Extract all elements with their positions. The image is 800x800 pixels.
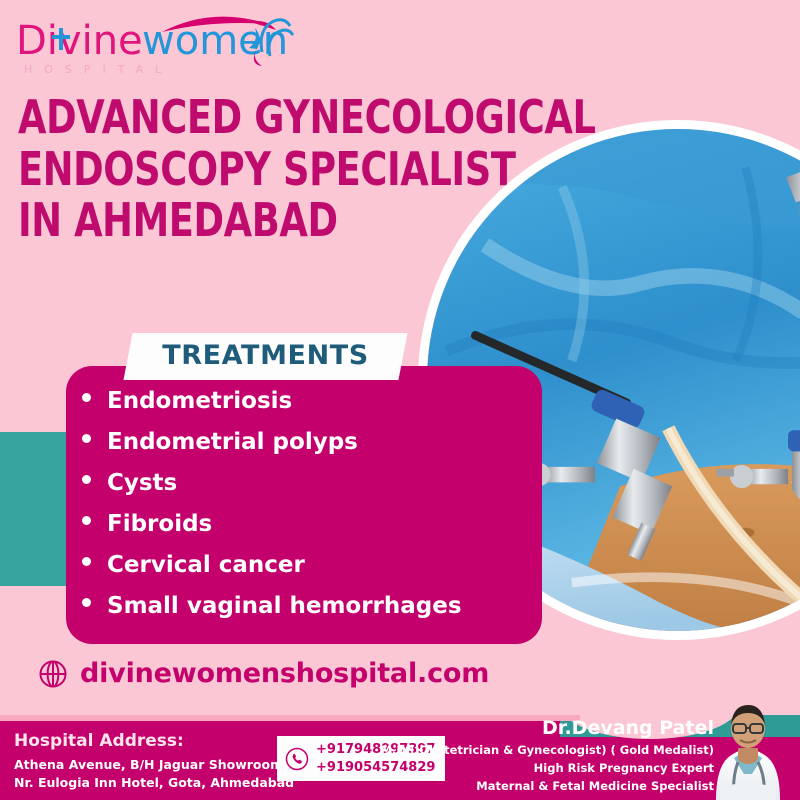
- treatment-label: Endometriosis: [107, 390, 292, 413]
- bullet-icon: [82, 598, 91, 607]
- list-item: Endometriosis: [82, 390, 552, 413]
- website-row[interactable]: divinewomenshospital.com: [38, 658, 489, 689]
- address-line: Athena Avenue, B/H Jaguar Showroom,: [14, 756, 294, 774]
- logo-subtitle: HOSPITAL: [24, 63, 173, 76]
- hospital-logo: Divine women HOSPITAL: [14, 6, 304, 78]
- doctor-credential: High Risk Pregnancy Expert: [381, 760, 714, 778]
- bullet-icon: [82, 434, 91, 443]
- treatment-label: Small vaginal hemorrhages: [107, 595, 462, 618]
- treatments-banner-label: TREATMENTS: [162, 340, 369, 371]
- list-item: Cysts: [82, 472, 552, 495]
- headline-line-2: ENDOSCOPY SPECIALIST: [18, 144, 466, 196]
- list-item: Endometrial polyps: [82, 431, 552, 454]
- bullet-icon: [82, 393, 91, 402]
- treatment-label: Endometrial polyps: [107, 431, 358, 454]
- address-title: Hospital Address:: [14, 731, 294, 751]
- doctor-info-block: Dr.Devang Patel M.D ( Obstetrician & Gyn…: [381, 717, 714, 795]
- bullet-icon: [82, 557, 91, 566]
- website-url[interactable]: divinewomenshospital.com: [80, 658, 489, 689]
- address-block: Hospital Address: Athena Avenue, B/H Jag…: [14, 731, 294, 792]
- page-title: ADVANCED GYNECOLOGICAL ENDOSCOPY SPECIAL…: [18, 92, 466, 247]
- bullet-icon: [82, 475, 91, 484]
- treatment-label: Fibroids: [107, 513, 212, 536]
- doctor-photo: [700, 692, 796, 800]
- globe-icon: [38, 659, 68, 689]
- list-item: Cervical cancer: [82, 554, 552, 577]
- logo-word-divine: Divine: [16, 18, 143, 64]
- list-item: Small vaginal hemorrhages: [82, 595, 552, 618]
- doctor-name: Dr.Devang Patel: [381, 717, 714, 739]
- treatment-label: Cysts: [107, 472, 177, 495]
- doctor-credential: Maternal & Fetal Medicine Specialist: [381, 778, 714, 796]
- treatments-banner: TREATMENTS: [123, 333, 407, 380]
- phone-icon: [285, 747, 309, 771]
- address-line: Nr. Eulogia Inn Hotel, Gota, Ahmedabad: [14, 774, 294, 792]
- bullet-icon: [82, 516, 91, 525]
- headline-line-1: ADVANCED GYNECOLOGICAL: [18, 92, 466, 144]
- treatments-list: Endometriosis Endometrial polyps Cysts F…: [82, 390, 552, 636]
- doctor-credential: M.D ( Obstetrician & Gynecologist) ( Gol…: [381, 742, 714, 760]
- treatment-label: Cervical cancer: [107, 554, 305, 577]
- headline-line-3: IN AHMEDABAD: [18, 195, 466, 247]
- list-item: Fibroids: [82, 513, 552, 536]
